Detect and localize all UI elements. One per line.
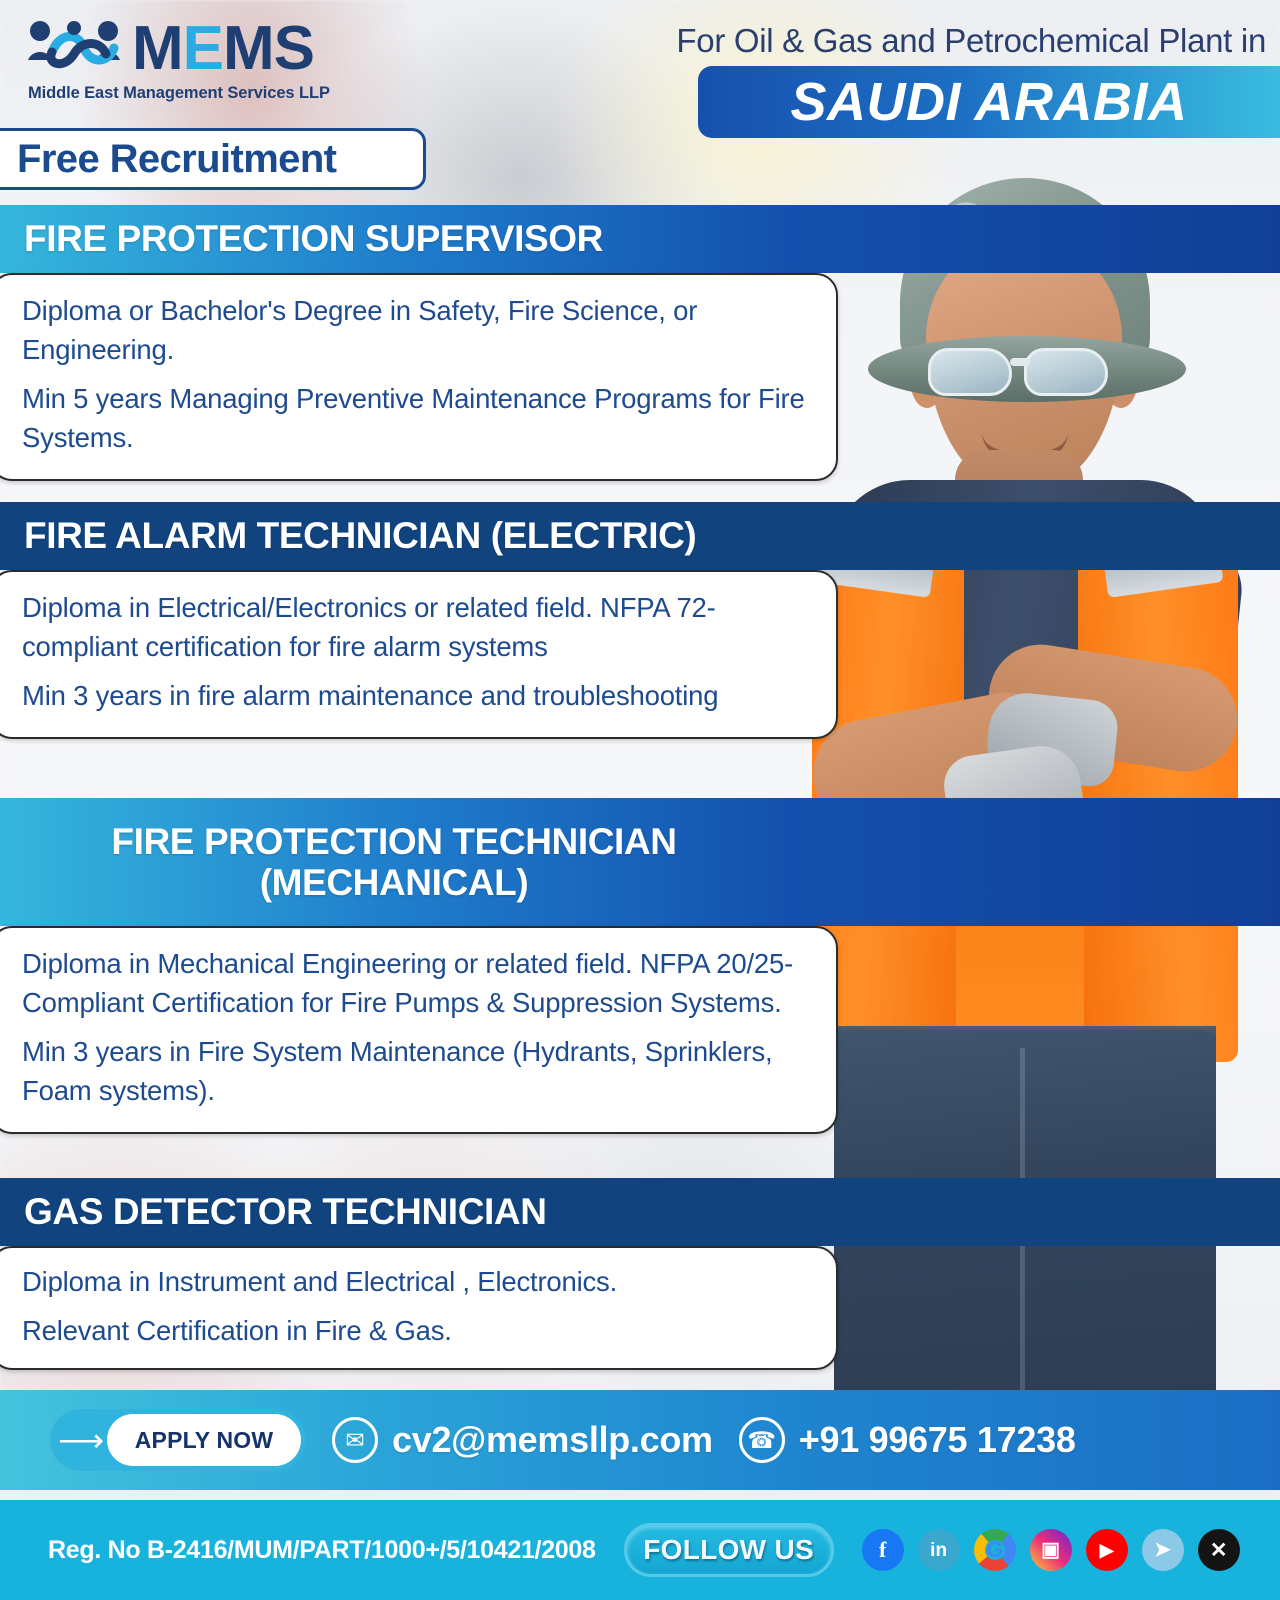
job-title: FIRE PROTECTION TECHNICIAN(MECHANICAL) xyxy=(14,821,774,904)
job-details-card: Diploma in Instrument and Electrical , E… xyxy=(0,1246,838,1370)
social-links: f in G ▣ ▶ ➤ ✕ xyxy=(862,1529,1240,1571)
job-section-fire-alarm-technician: FIRE ALARM TECHNICIAN (ELECTRIC) Diploma… xyxy=(0,502,1280,739)
job-section-fire-protection-supervisor: FIRE PROTECTION SUPERVISOR Diploma or Ba… xyxy=(0,205,1280,481)
email-contact[interactable]: ✉ cv2@memsllp.com xyxy=(332,1417,713,1463)
job-requirement: Diploma in Electrical/Electronics or rel… xyxy=(22,588,806,666)
job-requirement: Min 5 years Managing Preventive Maintena… xyxy=(22,379,806,457)
job-section-fire-protection-technician-mechanical: FIRE PROTECTION TECHNICIAN(MECHANICAL) D… xyxy=(0,798,1280,1134)
job-details-card: Diploma in Mechanical Engineering or rel… xyxy=(0,926,838,1134)
follow-us-label: FOLLOW US xyxy=(643,1534,814,1566)
job-title: GAS DETECTOR TECHNICIAN xyxy=(24,1191,547,1232)
job-details-card: Diploma or Bachelor's Degree in Safety, … xyxy=(0,273,838,481)
registration-number: Reg. No B-2416/MUM/PART/1000+/5/10421/20… xyxy=(48,1536,596,1565)
people-infinity-icon xyxy=(22,18,126,80)
poster-header: MEMS Middle East Management Services LLP… xyxy=(0,0,1280,200)
linkedin-icon[interactable]: in xyxy=(918,1529,960,1571)
job-section-gas-detector-technician: GAS DETECTOR TECHNICIAN Diploma in Instr… xyxy=(0,1178,1280,1370)
job-requirement: Min 3 years in fire alarm maintenance an… xyxy=(22,676,806,715)
envelope-icon: ✉ xyxy=(332,1417,378,1463)
logo-subtitle: Middle East Management Services LLP xyxy=(28,84,402,103)
follow-us-button[interactable]: FOLLOW US xyxy=(624,1523,834,1577)
facebook-icon[interactable]: f xyxy=(862,1529,904,1571)
poster-footer: Reg. No B-2416/MUM/PART/1000+/5/10421/20… xyxy=(0,1500,1280,1600)
telegram-icon[interactable]: ➤ xyxy=(1142,1529,1184,1571)
phone-contact[interactable]: ☎ +91 99675 17238 xyxy=(739,1417,1076,1463)
recruitment-poster: MEMS Middle East Management Services LLP… xyxy=(0,0,1280,1600)
phone-number: +91 99675 17238 xyxy=(799,1419,1076,1461)
email-address: cv2@memsllp.com xyxy=(392,1419,713,1461)
phone-icon: ☎ xyxy=(739,1417,785,1463)
arrow-right-icon: ⟶ xyxy=(55,1424,107,1456)
job-requirement: Diploma or Bachelor's Degree in Safety, … xyxy=(22,291,806,369)
job-title-bar: FIRE PROTECTION TECHNICIAN(MECHANICAL) xyxy=(0,798,1280,926)
company-logo: MEMS Middle East Management Services LLP xyxy=(22,18,402,103)
job-title-bar: FIRE ALARM TECHNICIAN (ELECTRIC) xyxy=(0,502,1280,570)
instagram-icon[interactable]: ▣ xyxy=(1030,1529,1072,1571)
country-banner: SAUDI ARABIA xyxy=(698,66,1280,138)
job-title-bar: FIRE PROTECTION SUPERVISOR xyxy=(0,205,1280,273)
job-requirement: Diploma in Mechanical Engineering or rel… xyxy=(22,944,806,1022)
job-title-bar: GAS DETECTOR TECHNICIAN xyxy=(0,1178,1280,1246)
free-recruitment-badge: Free Recruitment xyxy=(0,128,426,190)
x-twitter-icon[interactable]: ✕ xyxy=(1198,1529,1240,1571)
header-tagline: For Oil & Gas and Petrochemical Plant in xyxy=(676,22,1266,60)
apply-now-button[interactable]: ⟶ APPLY NOW xyxy=(50,1409,306,1471)
job-requirement: Diploma in Instrument and Electrical , E… xyxy=(22,1262,806,1301)
free-recruitment-label: Free Recruitment xyxy=(17,137,336,182)
country-label: SAUDI ARABIA xyxy=(791,71,1188,133)
job-requirement: Min 3 years in Fire System Maintenance (… xyxy=(22,1032,806,1110)
job-requirement: Relevant Certification in Fire & Gas. xyxy=(22,1311,806,1350)
job-title: FIRE ALARM TECHNICIAN (ELECTRIC) xyxy=(24,515,696,556)
job-title: FIRE PROTECTION SUPERVISOR xyxy=(24,218,603,259)
google-icon[interactable]: G xyxy=(974,1529,1016,1571)
apply-now-label: APPLY NOW xyxy=(107,1414,301,1466)
youtube-icon[interactable]: ▶ xyxy=(1086,1529,1128,1571)
logo-wordmark: MEMS xyxy=(132,18,314,80)
job-details-card: Diploma in Electrical/Electronics or rel… xyxy=(0,570,838,739)
contact-bar: ⟶ APPLY NOW ✉ cv2@memsllp.com ☎ +91 9967… xyxy=(0,1390,1280,1490)
